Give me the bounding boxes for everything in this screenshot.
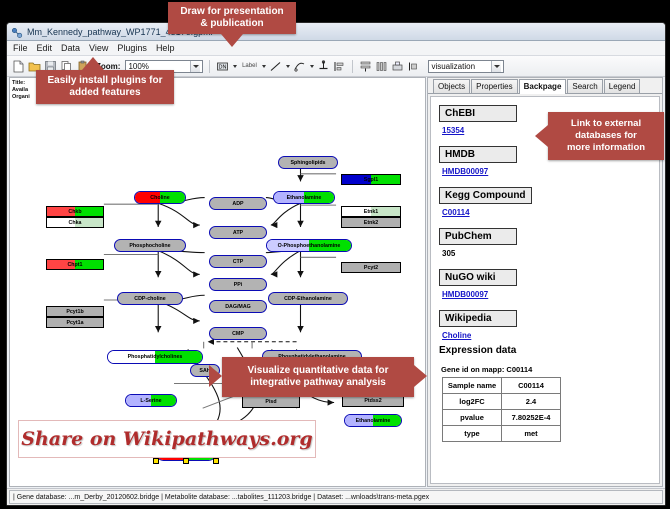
label-dropdown-icon[interactable] (262, 65, 266, 68)
datanode-dropdown-icon[interactable] (233, 65, 237, 68)
pathway-node-phosphocholine[interactable]: Phosphocholine (114, 239, 186, 252)
pathway-node-ppi[interactable]: PPi (209, 278, 267, 291)
pathway-node-label: Pcyt2 (364, 265, 378, 271)
pathway-node-label: Chkb (68, 209, 81, 215)
pathway-node-label: Etnk1 (364, 209, 378, 215)
pathway-node-dagmag[interactable]: DAG/MAG (209, 300, 267, 313)
status-bar: | Gene database: ...m_Derby_20120602.bri… (7, 488, 665, 505)
backpage-link-wikipedia[interactable]: Choline (442, 331, 659, 340)
callout-draw-arrow (221, 34, 243, 47)
chevron-down-icon-2[interactable] (491, 61, 501, 72)
backpage-header-kegg: Kegg Compound (439, 187, 532, 204)
pathway-node-label: Phosphatidylcholines (128, 354, 183, 360)
pathway-node-adp[interactable]: ADP (209, 197, 267, 210)
table-cell-key: Sample name (443, 378, 502, 394)
callout-visualize-line1: Visualize quantitative data for (248, 365, 389, 377)
callout-plugins-arrow (82, 57, 104, 70)
pathway-node-label: ADP (232, 201, 243, 207)
datanode-icon[interactable]: DN (216, 60, 229, 73)
backpage-header-wikipedia: Wikipedia (439, 310, 517, 327)
expression-data-title: Expression data (439, 345, 659, 356)
pathvisio-icon (11, 26, 23, 38)
distribute-icon[interactable] (375, 60, 388, 73)
backpage-value-pubchem: 305 (442, 249, 659, 258)
pathway-node-label: Phosphocholine (129, 243, 170, 249)
pathway-node-label: CMP (232, 331, 244, 337)
pathway-node-label: Ptdss2 (364, 398, 381, 404)
callout-plugins: Easily install plugins for added feature… (36, 70, 174, 104)
pathway-node-sgpl1[interactable]: Sgpl1 (341, 174, 401, 185)
table-row: pvalue 7.80252E-4 (443, 410, 561, 426)
callout-visualize: Visualize quantitative data for integrat… (222, 357, 414, 397)
menu-item-plugins[interactable]: Plugins (117, 43, 147, 53)
pathway-node-label: Etnk2 (364, 220, 378, 226)
pathway-node-label: CDP-Ethanolamine (284, 296, 332, 302)
table-cell-value: C00114 (502, 378, 561, 394)
pathway-node-label: CDP-choline (134, 296, 166, 302)
callout-share: Share on Wikipathways.org (18, 420, 316, 458)
callout-draw-line1: Draw for presentation (180, 6, 283, 18)
table-cell-value: 7.80252E-4 (502, 410, 561, 426)
callout-visualize-arrow-right (414, 365, 427, 387)
table-row: Sample name C00114 (443, 378, 561, 394)
pathway-node-chkb[interactable]: Chkb (46, 206, 104, 217)
pathway-node-label: DAG/MAG (225, 304, 251, 310)
callout-link-line2: databases for (575, 130, 637, 142)
pathway-node-label: Ethanolamine (287, 195, 322, 201)
pathway-node-label: CTP (233, 259, 244, 265)
shape-icon[interactable] (293, 60, 306, 73)
callout-link-line3: more information (567, 142, 645, 154)
callout-link-line1: Link to external (571, 118, 641, 130)
backpage-link-nugo[interactable]: HMDB00097 (442, 290, 659, 299)
table-row: type met (443, 426, 561, 442)
table-cell-key: pvalue (443, 410, 502, 426)
pathway-node-label: Ethanolamine (356, 418, 391, 424)
canvas-meta-available: Availa (12, 87, 30, 94)
pathway-node-phosphatidylcholines[interactable]: Phosphatidylcholines (107, 350, 203, 364)
callout-draw: Draw for presentation & publication (168, 2, 296, 34)
table-cell-value: 2.4 (502, 394, 561, 410)
table-cell-value: met (502, 426, 561, 442)
pathway-node-label: Chka (69, 220, 82, 226)
visualization-value: visualization (431, 62, 491, 71)
new-file-icon[interactable] (12, 60, 25, 73)
pathway-node-etnk2[interactable]: Etnk2 (341, 217, 401, 228)
pathway-node-ctp[interactable]: CTP (209, 255, 267, 268)
pathway-node-pcyt2[interactable]: Pcyt2 (341, 262, 401, 273)
backpage-header-pubchem: PubChem (439, 228, 517, 245)
group-icon[interactable] (391, 60, 404, 73)
backpage-link-kegg[interactable]: C00114 (442, 208, 659, 217)
callout-visualize-line2: integrative pathway analysis (250, 377, 386, 389)
callout-link: Link to external databases for more info… (548, 112, 664, 160)
pathway-node-lserine_left[interactable]: L-Serine (125, 394, 177, 407)
pathway-node-sphingolipids[interactable]: Sphingolipids (278, 156, 338, 169)
selection-handle-5[interactable] (153, 458, 159, 464)
tab-properties[interactable]: Properties (471, 79, 517, 93)
pathway-node-pisd[interactable]: Pisd (242, 396, 300, 408)
pathway-node-chka[interactable]: Chka (46, 217, 104, 228)
callout-visualize-arrow (209, 365, 222, 387)
table-cell-key: type (443, 426, 502, 442)
pathway-node-cdp_ethanolamine[interactable]: CDP-Ethanolamine (268, 292, 348, 305)
pathway-node-cdp_choline[interactable]: CDP-choline (117, 292, 183, 305)
chevron-down-icon[interactable] (190, 61, 200, 72)
pathway-node-label: Pcyt1b (66, 309, 83, 315)
pathway-node-ethanolamine_top[interactable]: Ethanolamine (273, 191, 335, 204)
callout-draw-line2: & publication (200, 18, 263, 30)
canvas-meta-title: Title: (12, 80, 30, 87)
tab-search[interactable]: Search (567, 79, 602, 93)
anchor-icon[interactable] (317, 60, 330, 73)
menu-item-file[interactable]: File (13, 43, 28, 53)
pathway-node-label: Choline (150, 195, 169, 201)
order-icon[interactable] (407, 60, 420, 73)
pathway-node-label: L-Serine (140, 398, 161, 404)
pathway-node-ethanolamine_bottom[interactable]: Ethanolamine (344, 414, 402, 427)
menu-bar: File Edit Data View Plugins Help (7, 41, 665, 56)
pathway-node-etnk1[interactable]: Etnk1 (341, 206, 401, 217)
label-icon[interactable]: Label (240, 60, 258, 73)
backpage-link-hmdb[interactable]: HMDB00097 (442, 167, 659, 176)
visualization-combobox[interactable]: visualization (428, 60, 504, 73)
menu-item-edit[interactable]: Edit (37, 43, 53, 53)
title-bar: Mm_Kennedy_pathway_WP1771_45176.gpml (7, 23, 665, 41)
pathway-node-ophosphoethanolamine[interactable]: O-Phosphoethanolamine (266, 239, 352, 252)
pathway-node-label: ATP (233, 230, 243, 236)
shape-dropdown-icon[interactable] (310, 65, 314, 68)
pathway-node-label: PPi (234, 282, 243, 288)
canvas-meta: Title: Availa Organi (12, 80, 30, 101)
pathway-node-pcyt1a[interactable]: Pcyt1a (46, 317, 104, 328)
selection-handle-7[interactable] (213, 458, 219, 464)
backpage-header-chebi: ChEBI (439, 105, 517, 122)
callout-plugins-line1: Easily install plugins for (47, 75, 162, 87)
pathway-node-label: O-Phosphoethanolamine (278, 243, 341, 249)
backpage-header-hmdb: HMDB (439, 146, 517, 163)
pathway-node-pcyt1b[interactable]: Pcyt1b (46, 306, 104, 317)
backpage-header-nugo: NuGO wiki (439, 269, 517, 286)
pathway-node-label: Pisd (265, 399, 276, 405)
pathway-node-label: Sphingolipids (290, 160, 325, 166)
pathway-node-choline_top[interactable]: Choline (134, 191, 186, 204)
table-cell-key: log2FC (443, 394, 502, 410)
table-row: log2FC 2.4 (443, 394, 561, 410)
tab-objects[interactable]: Objects (433, 79, 470, 93)
align-stack-icon[interactable] (359, 60, 372, 73)
side-pane-tabs: Objects Properties Backpage Search Legen… (428, 78, 662, 94)
pathway-node-cmp[interactable]: CMP (209, 327, 267, 340)
menu-item-help[interactable]: Help (156, 43, 175, 53)
align-left-icon[interactable] (333, 60, 346, 73)
selection-handle-6[interactable] (183, 458, 189, 464)
callout-link-arrow (535, 125, 548, 147)
toolbar-separator-2 (352, 60, 353, 73)
pathway-node-label: Sgpl1 (364, 177, 378, 183)
line-dropdown-icon[interactable] (286, 65, 290, 68)
menu-item-data[interactable]: Data (61, 43, 80, 53)
svg-text:DN: DN (219, 64, 227, 70)
line-icon[interactable] (269, 60, 282, 73)
canvas-meta-organism: Organi (12, 94, 30, 101)
expression-data-table: Sample name C00114 log2FC 2.4 pvalue 7.8… (442, 377, 561, 442)
toolbar-separator (209, 60, 210, 73)
pathway-node-label: Pcyt1a (66, 320, 83, 326)
menu-item-view[interactable]: View (89, 43, 108, 53)
tab-backpage[interactable]: Backpage (519, 79, 567, 94)
tab-legend[interactable]: Legend (604, 79, 641, 93)
pathway-node-atp[interactable]: ATP (209, 226, 267, 239)
pathway-node-chpt1[interactable]: Chpt1 (46, 259, 104, 270)
callout-plugins-line2: added features (69, 87, 140, 99)
gene-id-line: Gene id on mapp: C00114 (441, 365, 659, 374)
status-text: | Gene database: ...m_Derby_20120602.bri… (9, 490, 663, 504)
pathway-node-label: Chpt1 (67, 262, 82, 268)
